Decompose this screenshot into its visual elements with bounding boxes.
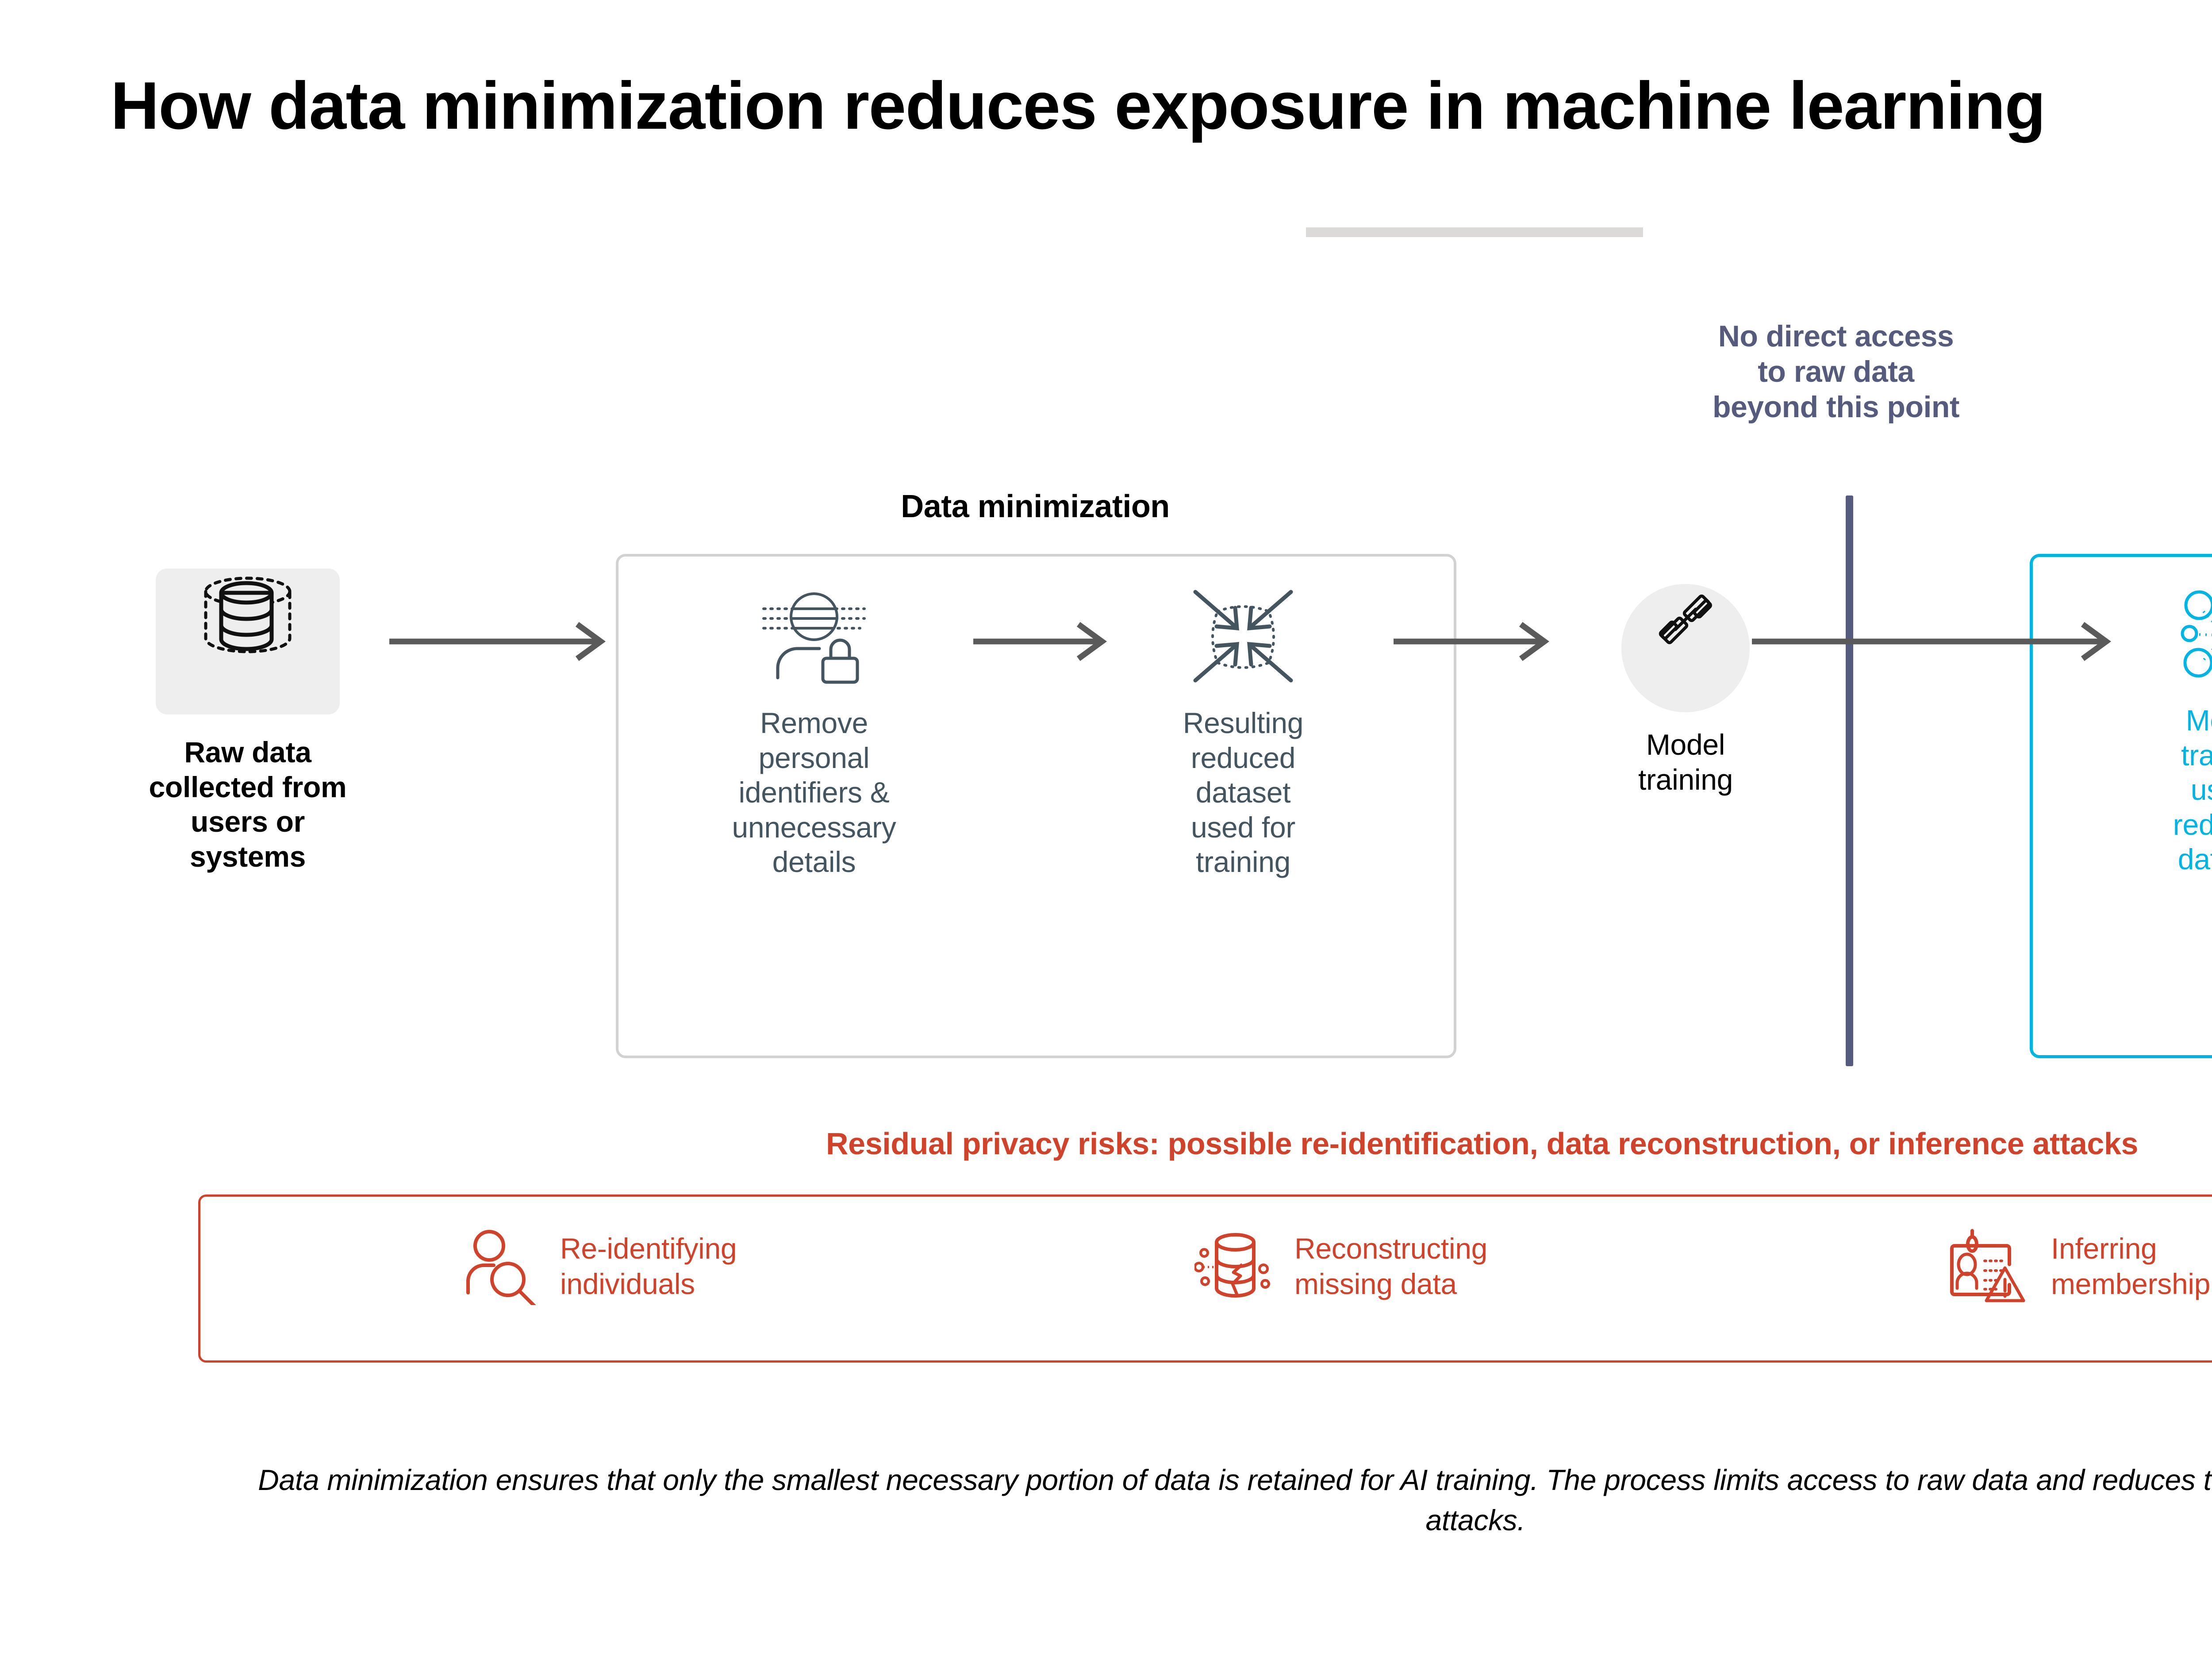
dumbbell-icon [1621,584,1750,712]
id-badge-warning-icon [1947,1225,2031,1307]
arrow-raw-to-minimization [389,617,619,666]
flow-node-raw-data-label: Raw data collected from users or systems [111,735,385,874]
flow-node-model-trained-label: Model trained using reduced dataset [2070,703,2212,877]
flow-node-reduced-dataset: Resulting reduced dataset used for train… [1093,584,1394,879]
person-magnifier-icon [460,1225,540,1307]
no-direct-access-note: No direct access to raw data beyond this… [1504,319,2168,425]
risk-item-label: Re-identifying individuals [560,1231,737,1301]
figure-caption: Data minimization ensures that only the … [221,1460,2212,1540]
person-redacted-lock-icon [664,584,964,691]
flow-node-remove-identifiers: Remove personal identifiers & unnecessar… [664,584,964,879]
flow-node-reduced-dataset-label: Resulting reduced dataset used for train… [1093,706,1394,879]
network-nodes-icon [2070,584,2212,688]
section-heading-measuring-utility: Measuring utility [2044,489,2212,525]
risk-item-re-identifying: Re-identifying individuals [460,1225,737,1307]
risk-item-inferring-membership: Inferring membership [1947,1225,2210,1307]
arrow-reduced-to-training [1394,617,1562,666]
title-rule-divider [1306,227,1643,237]
cracked-database-icon [1194,1225,1274,1307]
residual-risks-heading: Residual privacy risks: possible re-iden… [111,1126,2212,1161]
database-cylinder-icon [156,568,340,714]
risk-item-reconstructing: Reconstructing missing data [1194,1225,1487,1307]
arrows-compress-inward-icon [1093,584,1394,691]
page-title: How data minimization reduces exposure i… [111,71,2212,142]
flow-node-model-training-label: Model training [1540,727,1832,797]
risk-item-label: Reconstructing missing data [1294,1231,1487,1301]
flow-node-model-training: Model training [1540,584,1832,797]
section-heading-data-minimization: Data minimization [615,489,1455,525]
flow-node-model-trained: Model trained using reduced dataset [2070,584,2212,877]
risk-item-label: Inferring membership [2051,1231,2210,1301]
flow-node-raw-data: Raw data collected from users or systems [111,568,385,874]
access-boundary-divider [1846,495,1853,1066]
diagram-canvas: How data minimization reduces exposure i… [0,0,2212,1659]
flow-node-remove-identifiers-label: Remove personal identifiers & unnecessar… [664,706,964,879]
